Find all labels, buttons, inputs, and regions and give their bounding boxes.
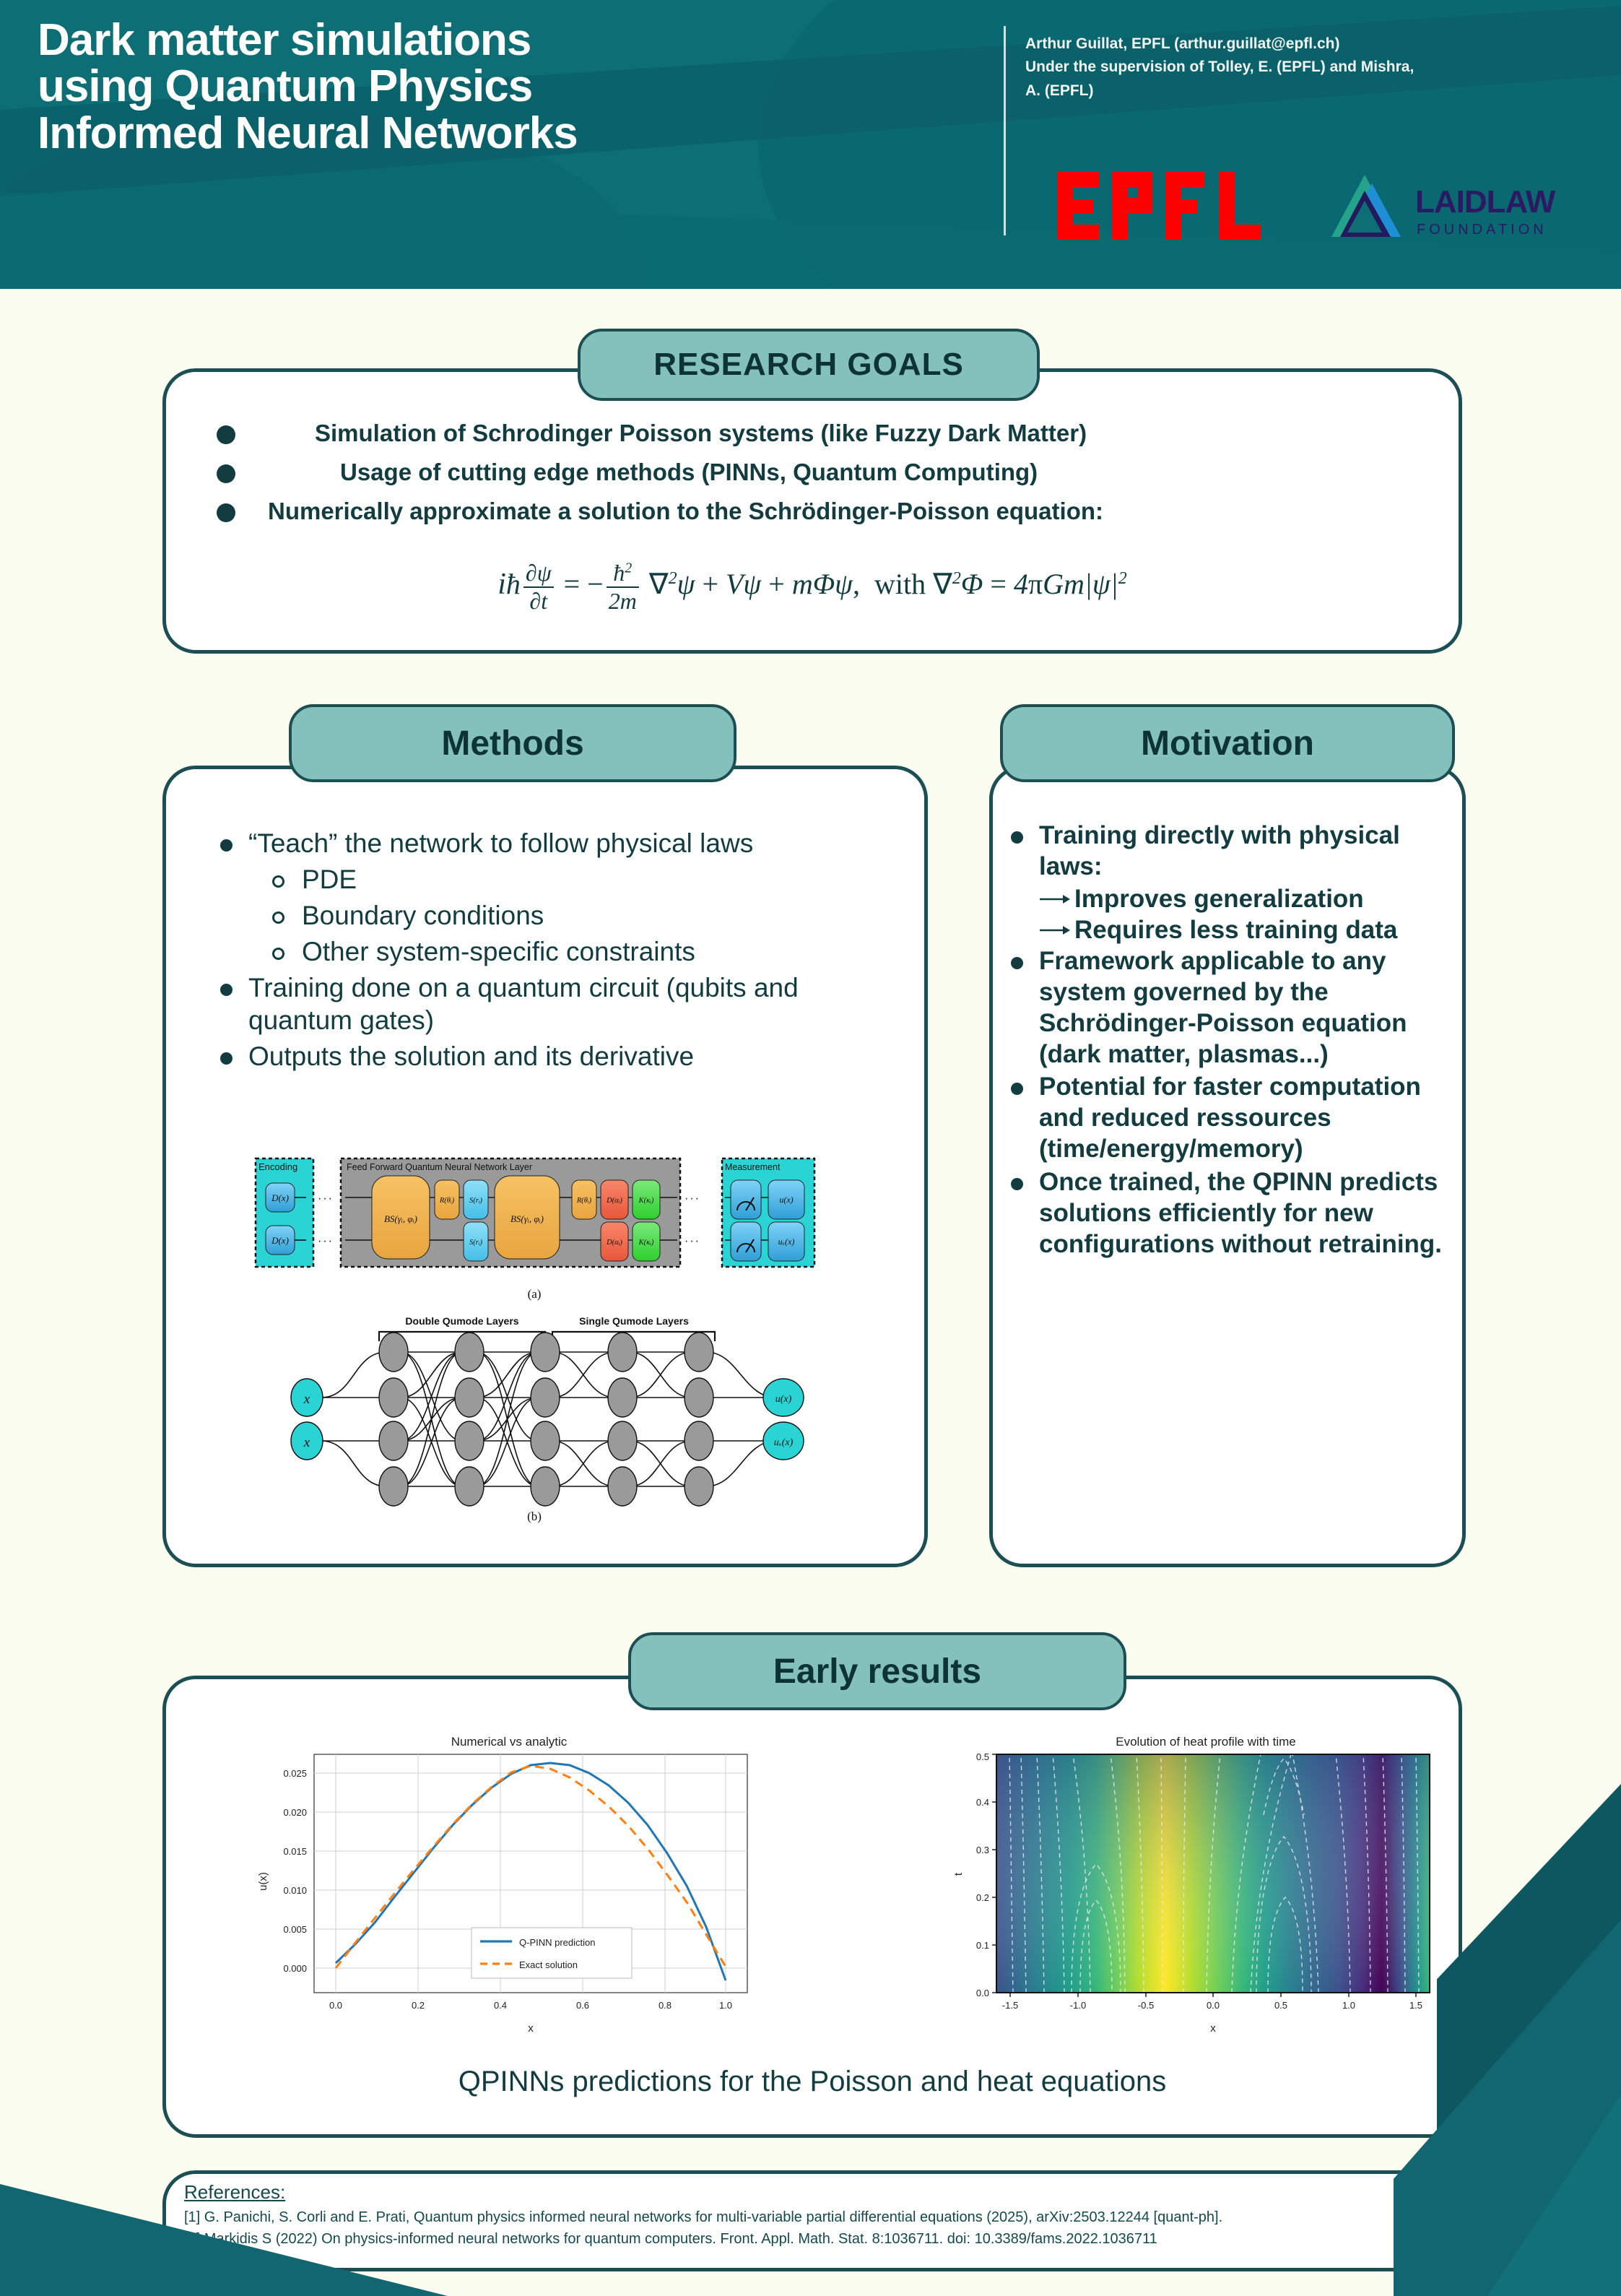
author-line-3: A. (EPFL) bbox=[1025, 80, 1531, 102]
chart-title: Numerical vs analytic bbox=[451, 1735, 568, 1749]
references-block: References: [1] G. Panichi, S. Corli and… bbox=[184, 2181, 1455, 2250]
author-divider bbox=[1004, 26, 1006, 235]
author-line-1: Arthur Guillat, EPFL (arthur.guillat@epf… bbox=[1025, 33, 1531, 55]
quantum-circuit-diagram: Encoding D(x) D(x) ··· ··· Feed Forward … bbox=[245, 1150, 823, 1287]
list-item: Once trained, the QPINN predicts solutio… bbox=[1011, 1166, 1444, 1260]
double-qumode-label: Double Qumode Layers bbox=[405, 1315, 518, 1327]
ellipsis-icon: ··· bbox=[318, 1192, 334, 1205]
methods-title: Methods bbox=[289, 704, 736, 782]
svg-text:uₓ(x): uₓ(x) bbox=[778, 1236, 795, 1247]
ellipsis-icon: ··· bbox=[318, 1235, 334, 1247]
list-item: Other system-specific constraints bbox=[272, 935, 877, 969]
ffqnn-layer-label: Feed Forward Quantum Neural Network Laye… bbox=[347, 1162, 532, 1172]
goal-text: Simulation of Schrodinger Poisson system… bbox=[315, 417, 1087, 449]
methods-list: “Teach” the network to follow physical l… bbox=[220, 827, 877, 1076]
goal-text: Usage of cutting edge methods (PINNs, Qu… bbox=[340, 456, 1038, 488]
list-item: Numerically approximate a solution to th… bbox=[217, 495, 1415, 527]
svg-text:D(x): D(x) bbox=[271, 1235, 289, 1246]
references-title: References: bbox=[184, 2181, 1455, 2204]
foundation-wordmark: FOUNDATION bbox=[1417, 222, 1547, 238]
goal-text: Numerically approximate a solution to th… bbox=[268, 495, 1103, 527]
motivation-text: Once trained, the QPINN predicts solutio… bbox=[1039, 1166, 1444, 1260]
motivation-text: Training directly with physical laws: bbox=[1039, 820, 1444, 882]
bullet-icon bbox=[217, 425, 235, 444]
svg-text:D(x): D(x) bbox=[271, 1192, 289, 1203]
motivation-title: Motivation bbox=[1000, 704, 1455, 782]
arrow-right-icon bbox=[1040, 924, 1070, 936]
early-results-title: Early results bbox=[628, 1632, 1126, 1710]
figure-b-caption: (b) bbox=[245, 1509, 823, 1524]
author-line-2: Under the supervision of Tolley, E. (EPF… bbox=[1025, 56, 1531, 78]
schrodinger-poisson-equation: iħ ∂ψ ∂t = − ħ2 2m ∇2ψ + Vψ + mΦψ, with … bbox=[162, 560, 1462, 615]
method-text: Training done on a quantum circuit (qubi… bbox=[248, 971, 877, 1038]
svg-text:R(θᵢ): R(θᵢ) bbox=[439, 1197, 455, 1205]
svg-text:S(rᵢ): S(rᵢ) bbox=[469, 1239, 482, 1247]
bullet-icon bbox=[1011, 1178, 1023, 1190]
x-axis-label: x bbox=[528, 2022, 534, 2035]
input-x: x bbox=[303, 1435, 310, 1450]
method-text: “Teach” the network to follow physical l… bbox=[248, 827, 753, 860]
y-tick: 0.1 bbox=[976, 1940, 989, 1951]
y-tick: 0.015 bbox=[283, 1846, 307, 1857]
bullet-icon bbox=[1011, 831, 1023, 844]
bullet-icon bbox=[220, 984, 232, 996]
svg-text:R(θᵢ): R(θᵢ) bbox=[576, 1197, 592, 1205]
single-qumode-label: Single Qumode Layers bbox=[579, 1315, 689, 1327]
arrow-right-icon bbox=[1040, 893, 1070, 905]
output-u: u(x) bbox=[775, 1394, 792, 1405]
y-axis-label: t bbox=[952, 1872, 965, 1876]
x-tick: -1.5 bbox=[1002, 2000, 1018, 2011]
list-item: Framework applicable to any system gover… bbox=[1011, 945, 1444, 1070]
motivation-text: Framework applicable to any system gover… bbox=[1039, 945, 1444, 1070]
x-tick: 0.4 bbox=[494, 2000, 507, 2011]
y-tick: 0.020 bbox=[283, 1807, 307, 1818]
y-tick: 0.3 bbox=[976, 1845, 989, 1855]
author-block: Arthur Guillat, EPFL (arthur.guillat@epf… bbox=[1025, 33, 1531, 103]
bullet-icon bbox=[217, 503, 235, 522]
svg-text:BS(γᵢ, φᵢ): BS(γᵢ, φᵢ) bbox=[384, 1213, 417, 1224]
list-item: Requires less training data bbox=[1040, 914, 1444, 945]
x-tick: 0.0 bbox=[329, 2000, 342, 2011]
list-item: Usage of cutting edge methods (PINNs, Qu… bbox=[217, 456, 1415, 488]
y-tick: 0.0 bbox=[976, 1988, 989, 1998]
list-item: Simulation of Schrodinger Poisson system… bbox=[217, 417, 1415, 449]
numerical-vs-analytic-chart: Numerical vs analytic 0.000 0.005 0.010 … bbox=[235, 1730, 783, 2048]
output-ux: uₓ(x) bbox=[774, 1437, 794, 1448]
chart-title: Evolution of heat profile with time bbox=[1116, 1735, 1295, 1749]
y-axis-label: u(x) bbox=[257, 1872, 269, 1891]
motivation-list: Training directly with physical laws: Im… bbox=[1011, 820, 1444, 1261]
x-tick: 1.5 bbox=[1409, 2000, 1422, 2011]
ellipsis-icon: ··· bbox=[685, 1192, 700, 1205]
epfl-logo bbox=[1056, 168, 1272, 244]
x-tick: 0.6 bbox=[576, 2000, 589, 2011]
reference-entry: [2] Markidis S (2022) On physics-informe… bbox=[184, 2228, 1455, 2250]
svg-text:D(αᵢ): D(αᵢ) bbox=[606, 1239, 622, 1247]
x-tick: 0.0 bbox=[1207, 2000, 1220, 2011]
page-title: Dark matter simulations using Quantum Ph… bbox=[38, 17, 962, 157]
y-tick: 0.000 bbox=[283, 1963, 307, 1974]
bullet-icon bbox=[220, 1052, 232, 1065]
x-tick: 0.8 bbox=[659, 2000, 672, 2011]
y-tick: 0.010 bbox=[283, 1885, 307, 1896]
method-subtext: Boundary conditions bbox=[302, 899, 544, 932]
bullet-icon bbox=[217, 464, 235, 483]
ellipsis-icon: ··· bbox=[685, 1235, 700, 1247]
list-item: Training done on a quantum circuit (qubi… bbox=[220, 971, 877, 1038]
bullet-icon bbox=[1011, 957, 1023, 969]
svg-text:D(αᵢ): D(αᵢ) bbox=[606, 1197, 622, 1205]
method-subtext: Other system-specific constraints bbox=[302, 935, 695, 969]
legend-item-exact: Exact solution bbox=[519, 1959, 578, 1970]
svg-text:K(κᵢ): K(κᵢ) bbox=[638, 1239, 654, 1247]
svg-text:BS(γᵢ, φᵢ): BS(γᵢ, φᵢ) bbox=[510, 1213, 544, 1224]
figure-a-caption: (a) bbox=[245, 1287, 823, 1301]
svg-text:u(x): u(x) bbox=[779, 1195, 793, 1205]
x-tick: -1.0 bbox=[1070, 2000, 1086, 2011]
y-tick: 0.2 bbox=[976, 1892, 989, 1903]
research-goals-list: Simulation of Schrodinger Poisson system… bbox=[217, 417, 1415, 535]
measurement-label: Measurement bbox=[725, 1162, 781, 1172]
encoding-label: Encoding bbox=[258, 1161, 297, 1172]
y-tick: 0.025 bbox=[283, 1768, 307, 1779]
list-item: “Teach” the network to follow physical l… bbox=[220, 827, 877, 860]
bullet-icon bbox=[220, 839, 232, 852]
hollow-bullet-icon bbox=[272, 911, 284, 924]
list-item: Outputs the solution and its derivative bbox=[220, 1040, 877, 1073]
results-caption: QPINNs predictions for the Poisson and h… bbox=[162, 2066, 1462, 2098]
laidlaw-wordmark: LAIDLAW bbox=[1415, 184, 1556, 220]
decoration-bottom-right-corner bbox=[1487, 2094, 1621, 2296]
method-subtext: PDE bbox=[302, 863, 357, 896]
x-tick: -0.5 bbox=[1138, 2000, 1154, 2011]
hollow-bullet-icon bbox=[272, 948, 284, 960]
y-tick: 0.005 bbox=[283, 1924, 307, 1935]
x-tick: 0.5 bbox=[1274, 2000, 1287, 2011]
method-text: Outputs the solution and its derivative bbox=[248, 1040, 694, 1073]
x-tick: 1.0 bbox=[1342, 2000, 1355, 2011]
motivation-arrow-text: Requires less training data bbox=[1074, 914, 1397, 945]
list-item: Training directly with physical laws: bbox=[1011, 820, 1444, 882]
x-axis-label: x bbox=[1210, 2022, 1216, 2035]
hollow-bullet-icon bbox=[272, 875, 284, 888]
qumode-network-diagram: Double Qumode Layers Single Qumode Layer… bbox=[245, 1307, 823, 1509]
list-item: Improves generalization bbox=[1040, 883, 1444, 914]
svg-text:K(κᵢ): K(κᵢ) bbox=[638, 1197, 654, 1205]
reference-entry: [1] G. Panichi, S. Corli and E. Prati, Q… bbox=[184, 2206, 1455, 2228]
y-tick: 0.5 bbox=[976, 1751, 989, 1762]
input-x: x bbox=[303, 1392, 310, 1407]
list-item: Potential for faster computation and red… bbox=[1011, 1071, 1444, 1164]
legend-item-qpinn: Q-PINN prediction bbox=[519, 1937, 595, 1948]
bullet-icon bbox=[1011, 1083, 1023, 1095]
x-tick: 1.0 bbox=[719, 2000, 732, 2011]
motivation-text: Potential for faster computation and red… bbox=[1039, 1071, 1444, 1164]
research-goals-title: RESEARCH GOALS bbox=[578, 329, 1040, 401]
y-tick: 0.4 bbox=[976, 1797, 989, 1808]
motivation-arrow-text: Improves generalization bbox=[1074, 883, 1364, 914]
list-item: PDE bbox=[272, 863, 877, 896]
laidlaw-foundation-logo: LAIDLAW FOUNDATION bbox=[1329, 172, 1574, 241]
list-item: Boundary conditions bbox=[272, 899, 877, 932]
x-tick: 0.2 bbox=[412, 2000, 425, 2011]
svg-text:S(rᵢ): S(rᵢ) bbox=[469, 1197, 482, 1205]
heat-profile-chart: Evolution of heat profile with time 0.0 … bbox=[917, 1730, 1466, 2048]
